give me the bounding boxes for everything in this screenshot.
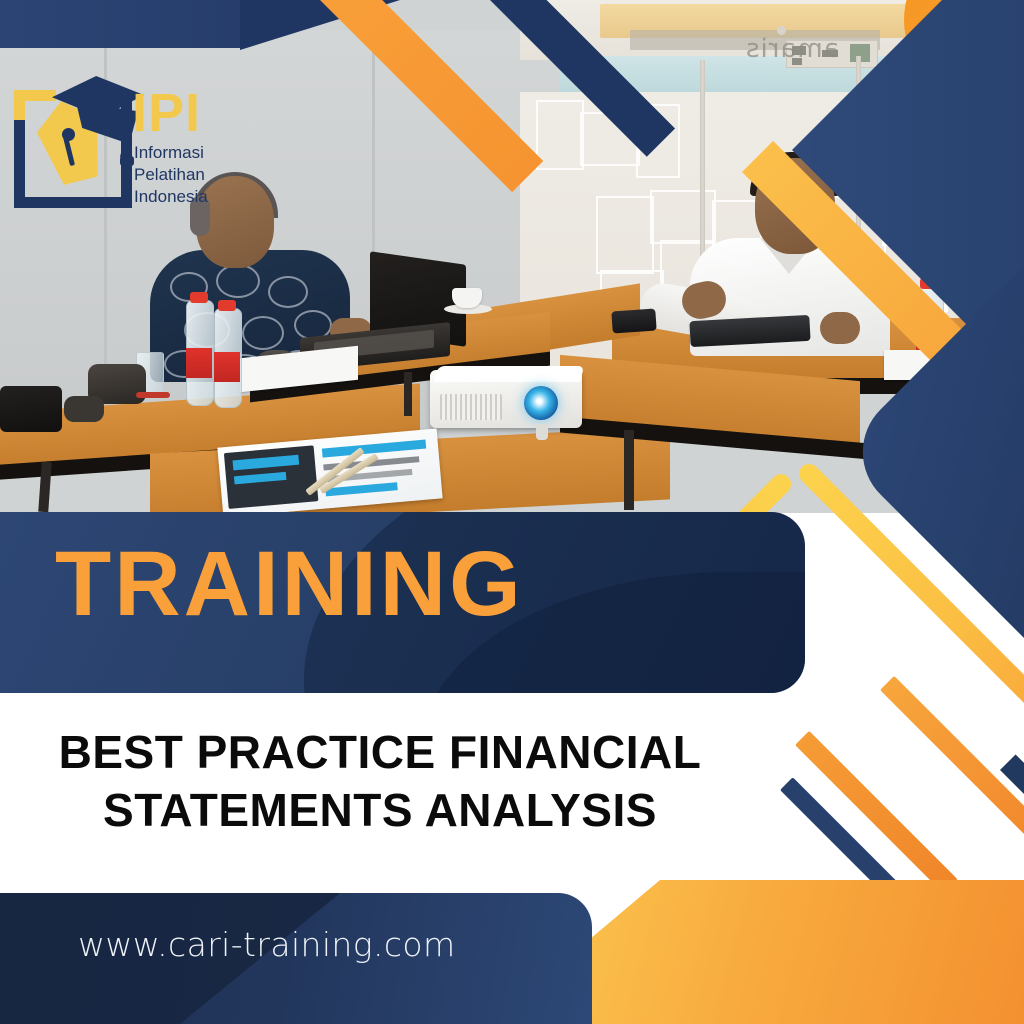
course-title-line-1: BEST PRACTICE FINANCIAL — [0, 724, 760, 782]
ipi-logo[interactable]: IPI Informasi Pelatihan Indonesia — [14, 72, 229, 192]
glass-tile — [650, 190, 716, 244]
training-label: TRAINING — [55, 538, 524, 630]
graduation-tassel-end-icon — [120, 156, 134, 166]
logo-subtitle: Informasi Pelatihan Indonesia — [134, 142, 208, 207]
glass-tile — [536, 100, 584, 170]
marker-pen — [136, 392, 170, 398]
amaris-signage: amaris — [745, 34, 840, 64]
logo-subtitle-line-3: Indonesia — [134, 186, 208, 208]
bottle-cap — [218, 300, 236, 311]
smartphone — [611, 308, 656, 333]
table-leg — [624, 430, 634, 510]
bottle-label — [214, 352, 240, 382]
logo-subtitle-line-1: Informasi — [134, 142, 208, 164]
keys — [64, 396, 104, 422]
coffee-cup — [452, 288, 482, 308]
table-leg — [404, 372, 412, 416]
logo-initials: IPI — [132, 86, 201, 140]
bottle-label — [186, 348, 212, 378]
projector-top — [434, 366, 585, 382]
projector-vent — [440, 394, 502, 420]
bottle-cap — [190, 292, 208, 303]
training-poster: amaris — [0, 0, 1024, 1024]
logo-subtitle-line-2: Pelatihan — [134, 164, 208, 186]
logo-frame-accent — [14, 90, 25, 120]
table-leg — [38, 462, 51, 513]
projector-foot — [536, 424, 548, 440]
laptop-bag — [0, 386, 62, 432]
person-hand — [820, 312, 860, 344]
course-title-line-2: STATEMENTS ANALYSIS — [0, 782, 760, 840]
projector-lens — [524, 386, 558, 420]
website-url[interactable]: www.cari-training.com — [78, 925, 456, 964]
glass-tile — [596, 196, 654, 274]
course-title: BEST PRACTICE FINANCIAL STATEMENTS ANALY… — [0, 724, 760, 839]
